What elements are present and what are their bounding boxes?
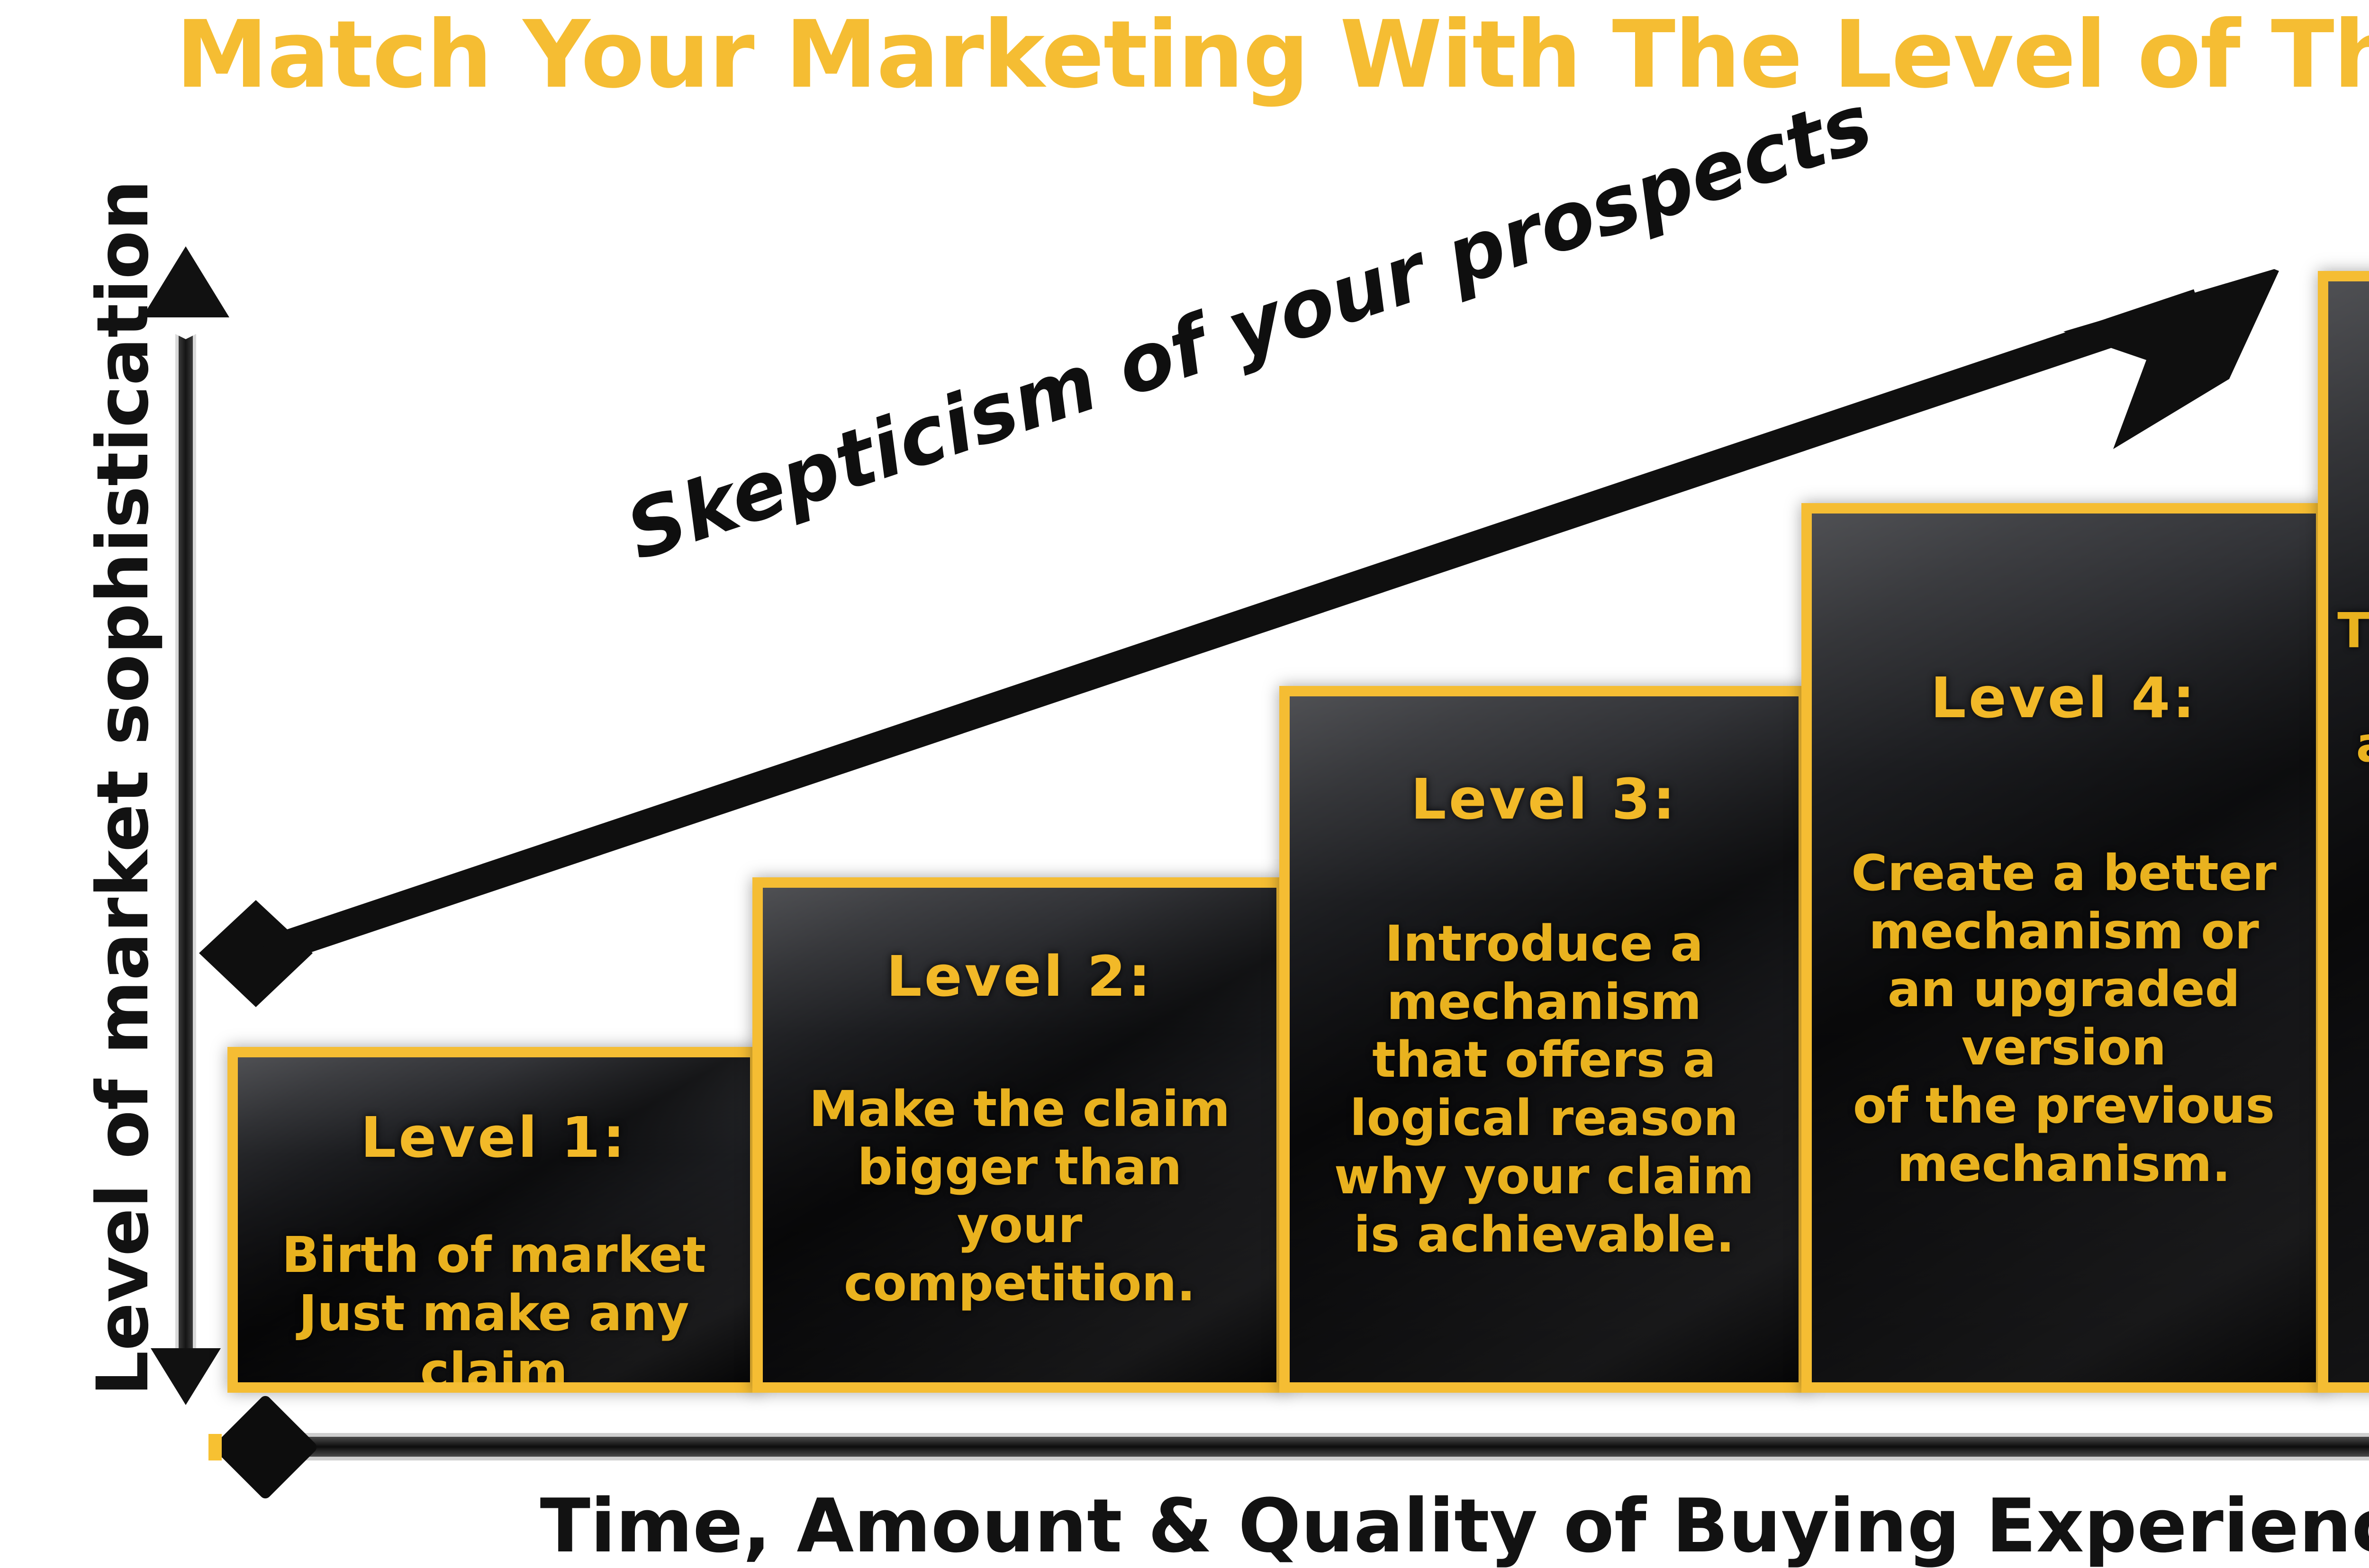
level-3-line-6: is achievable. bbox=[1298, 1206, 1790, 1264]
level-3-line-2: mechanism bbox=[1298, 973, 1790, 1031]
level-2-line-4: competition. bbox=[771, 1254, 1268, 1313]
level-5-heading: Level 5: bbox=[2337, 419, 2369, 484]
x-axis-tick-left bbox=[208, 1434, 222, 1460]
y-axis-line bbox=[175, 265, 196, 1388]
level-2-line-2: bigger than bbox=[771, 1138, 1268, 1197]
level-3-line-1: Introduce a bbox=[1298, 915, 1790, 973]
trend-start-diamond-icon bbox=[199, 900, 313, 1007]
level-4-line-2: mechanism or bbox=[1820, 902, 2307, 961]
level-3-heading: Level 3: bbox=[1298, 766, 1790, 832]
level-box-1[interactable]: Level 1: Birth of market Just make any c… bbox=[227, 1047, 760, 1393]
level-5-paragraph-2: They no longerbelieve in anymechanisms. bbox=[2337, 815, 2369, 986]
level-3-line-4: logical reason bbox=[1298, 1089, 1790, 1147]
y-axis-label: Level of market sophistication bbox=[82, 259, 164, 1396]
level-2-body: Make the claim bigger than your competit… bbox=[771, 1080, 1268, 1313]
page-title: Match Your Marketing With The Level of T… bbox=[0, 9, 2369, 101]
level-3-line-5: why your claim bbox=[1298, 1147, 1790, 1206]
level-3-line-3: that offers a bbox=[1298, 1031, 1790, 1089]
level-4-line-5: mechanism. bbox=[1820, 1135, 2307, 1193]
level-1-line-2: Just make any claim bbox=[246, 1284, 741, 1393]
trend-arrow-label: Skepticism of your prospects bbox=[615, 115, 1768, 578]
level-4-heading: Level 4: bbox=[1820, 665, 2307, 730]
level-1-line-1: Birth of market bbox=[246, 1226, 741, 1284]
level-1-body: Birth of market Just make any claim bbox=[246, 1226, 741, 1393]
level-5-body: The market's levelof skepticism isat the… bbox=[2337, 603, 2369, 1312]
x-axis-label: Time, Amount & Quality of Buying Experie… bbox=[0, 1483, 2369, 1568]
level-5-paragraph-1: The market's levelof skepticism isat the… bbox=[2337, 603, 2369, 774]
x-axis-line bbox=[265, 1433, 2369, 1460]
level-4-line-4: of the previous bbox=[1820, 1077, 2307, 1135]
level-4-body: Create a better mechanism or an upgraded… bbox=[1820, 844, 2307, 1193]
level-2-line-1: Make the claim bbox=[771, 1080, 1268, 1138]
level-box-3[interactable]: Level 3: Introduce a mechanism that offe… bbox=[1279, 686, 1809, 1393]
level-box-2[interactable]: Level 2: Make the claim bigger than your… bbox=[752, 877, 1287, 1393]
trend-arrow-head-icon bbox=[2063, 269, 2279, 449]
level-1-heading: Level 1: bbox=[246, 1105, 741, 1170]
level-5-paragraph-3: New advancedmarketing strategiesmust be … bbox=[2337, 1027, 2369, 1312]
level-4-line-1: Create a better bbox=[1820, 844, 2307, 902]
level-2-heading: Level 2: bbox=[771, 944, 1268, 1009]
level-3-body: Introduce a mechanism that offers a logi… bbox=[1298, 915, 1790, 1263]
level-2-line-3: your bbox=[771, 1196, 1268, 1254]
level-box-5[interactable]: Level 5: The market's levelof skepticism… bbox=[2318, 271, 2369, 1393]
level-box-4[interactable]: Level 4: Create a better mechanism or an… bbox=[1801, 503, 2326, 1393]
infographic-canvas: Match Your Marketing With The Level of T… bbox=[0, 0, 2369, 1568]
level-4-line-3: an upgraded version bbox=[1820, 960, 2307, 1076]
